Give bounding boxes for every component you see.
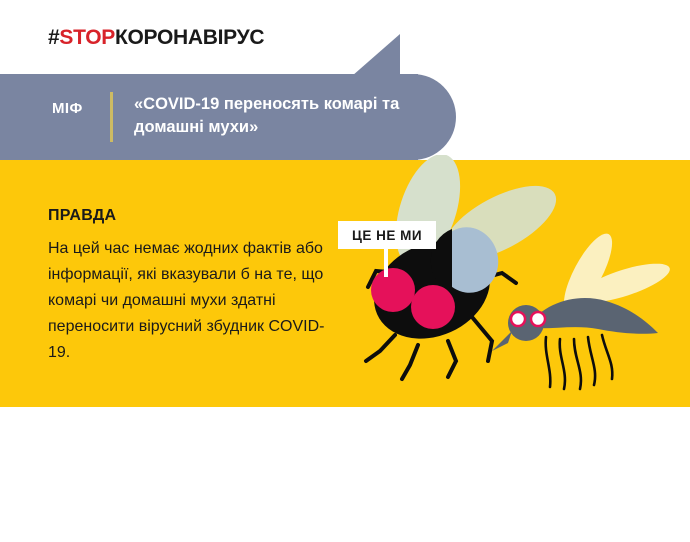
- myth-divider: [110, 92, 113, 142]
- sign-post: [384, 249, 388, 277]
- truth-label: ПРАВДА: [48, 207, 116, 225]
- hashtag-stop-word: STOP: [59, 26, 115, 49]
- speech-sign: ЦЕ НЕ МИ: [338, 221, 436, 249]
- myth-statement: «COVID-19 переносять комарі та домашні м…: [134, 93, 419, 139]
- truth-body-text: На цей час немає жодних фактів або інфор…: [48, 236, 338, 366]
- footer: МІНІСТЕРСТВО ОХОРОНИ ЗДОРОВ'Я УКРАЇНИ: [0, 407, 690, 542]
- myth-label: МІФ: [52, 100, 83, 117]
- hashtag-symbol: #: [48, 26, 59, 49]
- campaign-hashtag: #STOPКОРОНАВІРУС: [48, 26, 264, 50]
- speech-sign-label: ЦЕ НЕ МИ: [352, 228, 422, 243]
- poster-canvas: #STOPКОРОНАВІРУС МІФ «COVID-19 переносят…: [0, 0, 690, 542]
- hashtag-rest-word: КОРОНАВІРУС: [115, 26, 264, 49]
- insects-illustration: [340, 155, 690, 407]
- myth-band-tail: [352, 34, 400, 76]
